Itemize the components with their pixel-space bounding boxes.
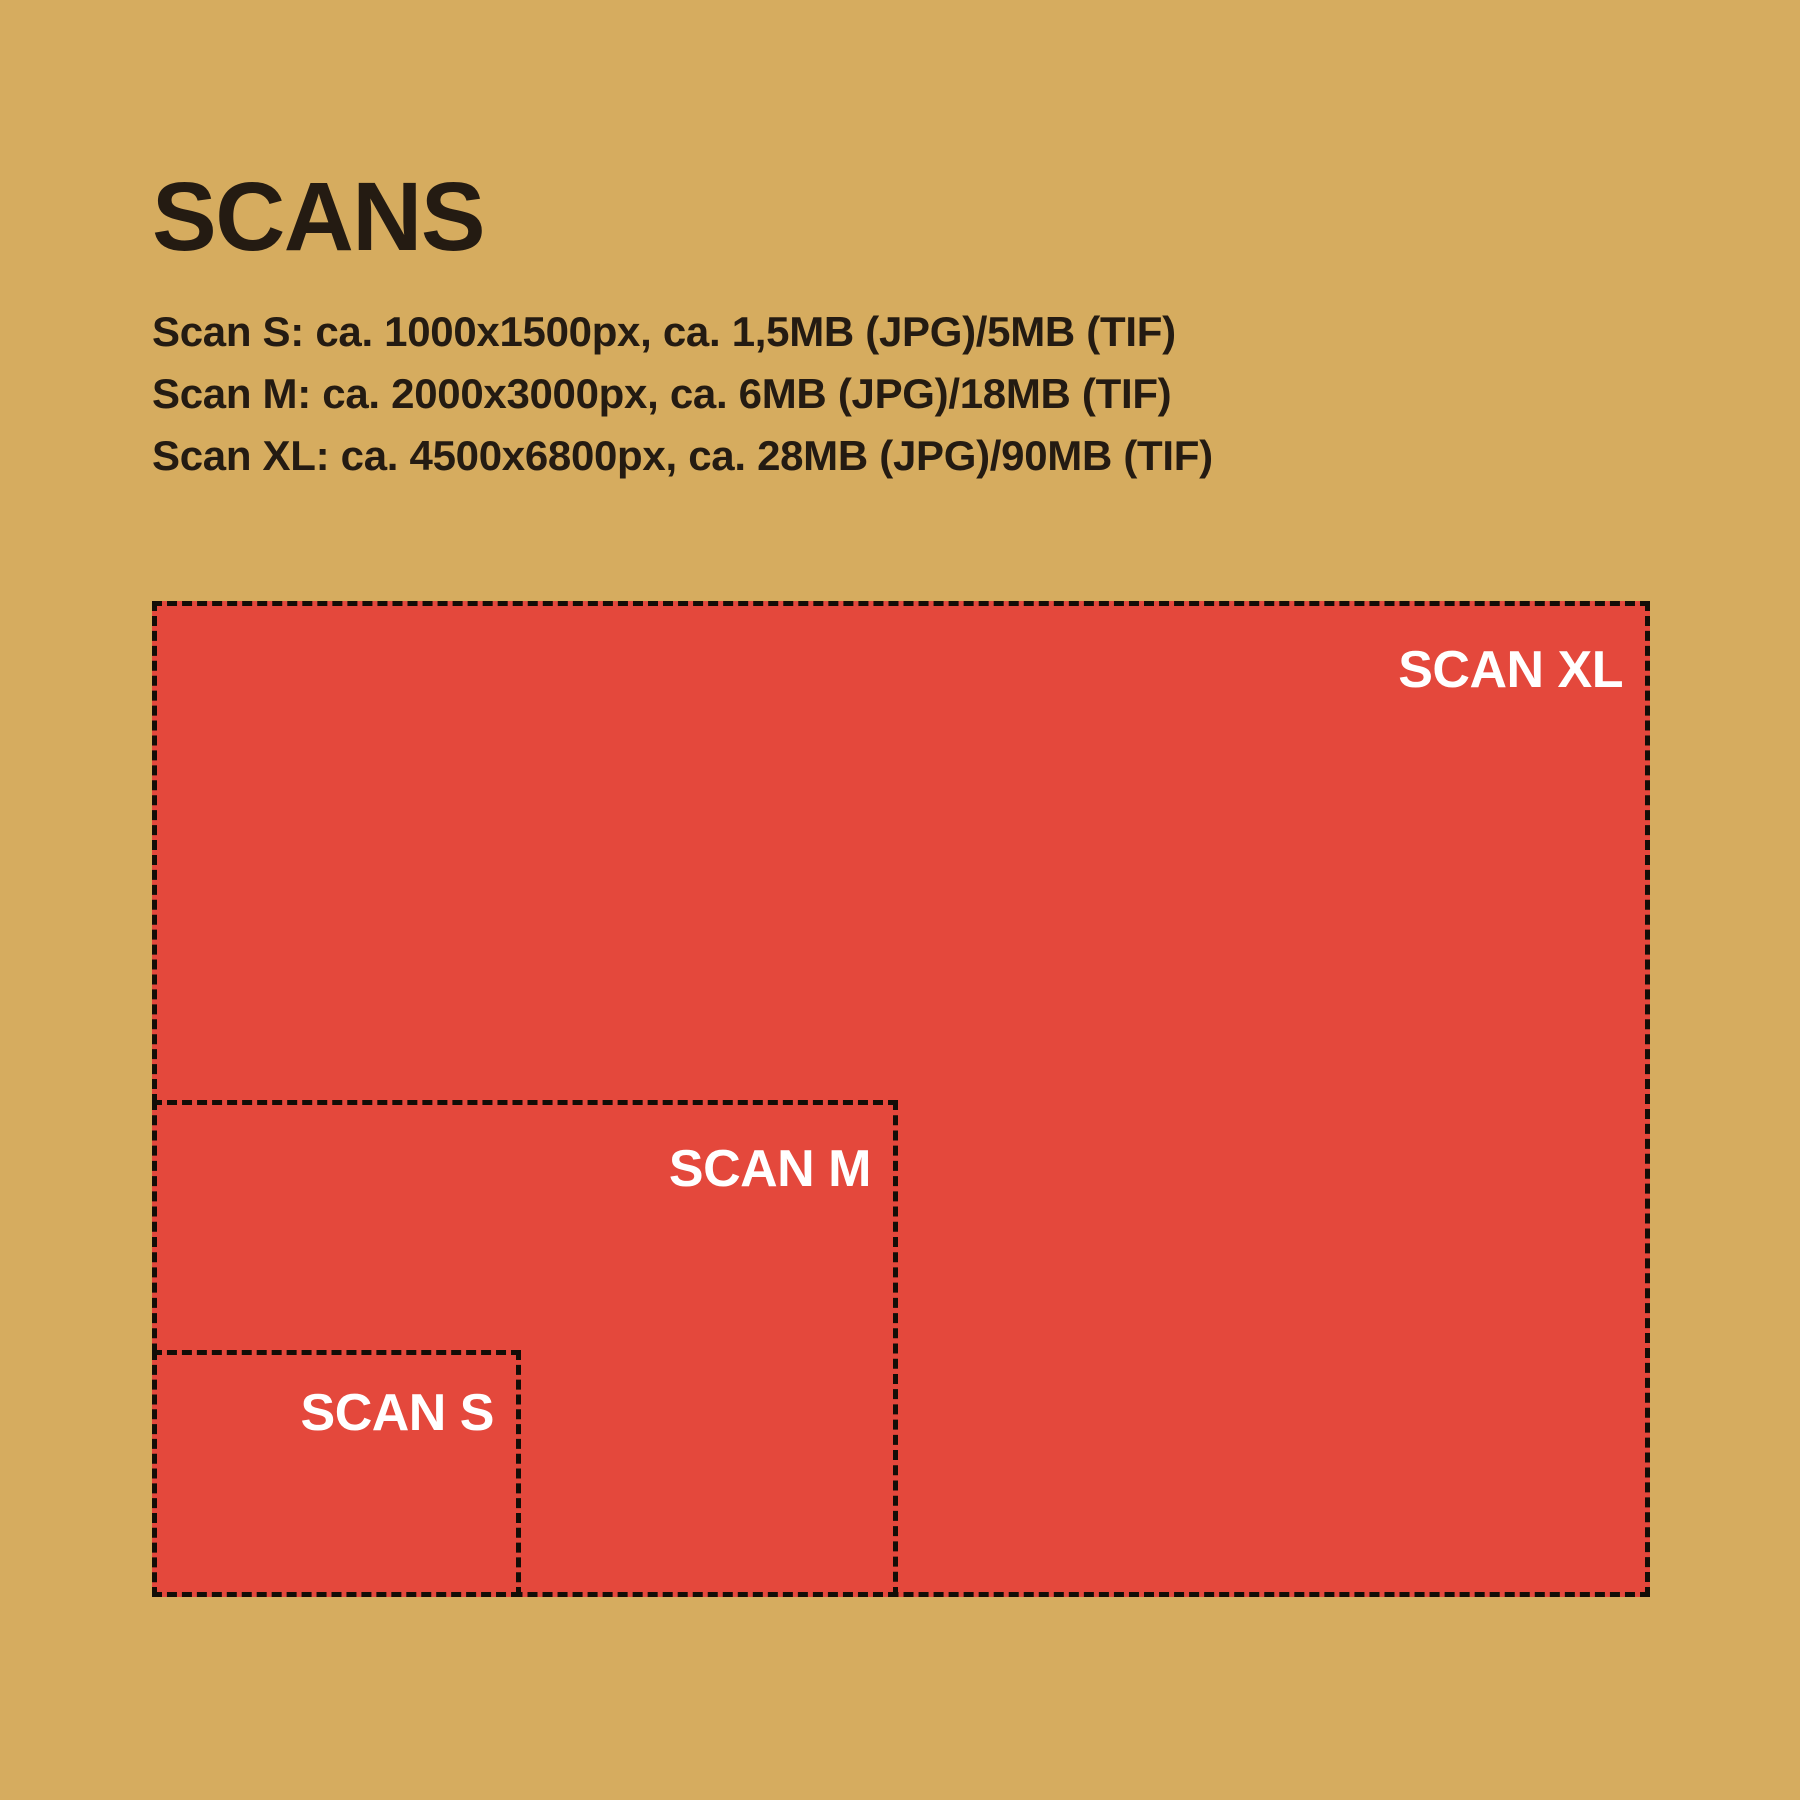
spec-line-scan-xl: Scan XL: ca. 4500x6800px, ca. 28MB (JPG)… (152, 425, 1712, 487)
spec-line-scan-s: Scan S: ca. 1000x1500px, ca. 1,5MB (JPG)… (152, 301, 1712, 363)
size-box-label-xl: SCAN XL (1398, 644, 1623, 696)
size-box-label-s: SCAN S (301, 1387, 494, 1439)
page-title: SCANS (152, 168, 1712, 265)
size-box-label-m: SCAN M (669, 1143, 871, 1195)
size-comparison-diagram: SCAN XL SCAN M SCAN S (152, 601, 1650, 1597)
infographic-page: SCANS Scan S: ca. 1000x1500px, ca. 1,5MB… (0, 0, 1800, 1800)
spec-list: Scan S: ca. 1000x1500px, ca. 1,5MB (JPG)… (152, 301, 1712, 487)
spec-line-scan-m: Scan M: ca. 2000x3000px, ca. 6MB (JPG)/1… (152, 363, 1712, 425)
size-box-s: SCAN S (152, 1350, 521, 1597)
header: SCANS Scan S: ca. 1000x1500px, ca. 1,5MB… (152, 168, 1712, 487)
